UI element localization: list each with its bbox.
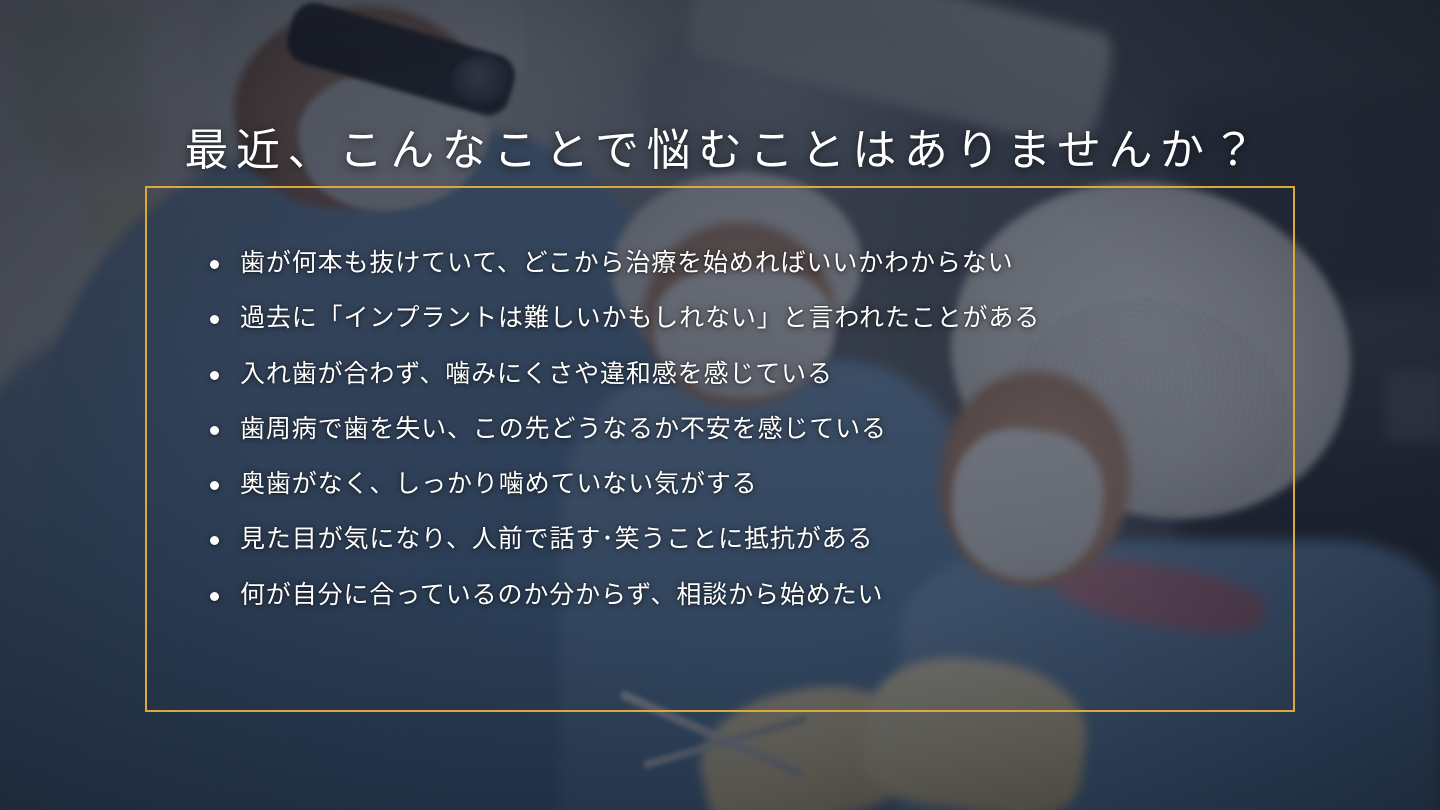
presentation-slide: 最近、こんなことで悩むことはありませんか？ 歯が何本も抜けていて、どこから治療を… [0, 0, 1440, 810]
bullet-dot-icon [210, 481, 219, 490]
concerns-list: 歯が何本も抜けていて、どこから治療を始めればいいかわからない 過去に「インプラン… [210, 246, 1230, 614]
list-item: 見た目が気になり、人前で話す･笑うことに抵抗がある [210, 522, 1230, 558]
list-item: 歯が何本も抜けていて、どこから治療を始めればいいかわからない [210, 246, 1230, 282]
list-item-label: 歯が何本も抜けていて、どこから治療を始めればいいかわからない [240, 250, 1014, 277]
list-item: 奥歯がなく、しっかり噛めていない気がする [210, 467, 1230, 503]
bullet-dot-icon [210, 315, 219, 324]
list-item: 何が自分に合っているのか分からず、相談から始めたい [210, 578, 1230, 614]
bullet-dot-icon [210, 371, 219, 380]
list-item-label: 過去に「インプラントは難しいかもしれない」と言われたことがある [240, 305, 1040, 332]
list-item-label: 歯周病で歯を失い、この先どうなるか不安を感じている [240, 416, 887, 443]
list-item-label: 何が自分に合っているのか分からず、相談から始めたい [240, 582, 883, 609]
list-item: 入れ歯が合わず、噛みにくさや違和感を感じている [210, 357, 1230, 393]
slide-title: 最近、こんなことで悩むことはありませんか？ [0, 125, 1440, 178]
slide-content: 最近、こんなことで悩むことはありませんか？ 歯が何本も抜けていて、どこから治療を… [0, 0, 1440, 810]
bullet-dot-icon [210, 592, 219, 601]
bullet-dot-icon [210, 536, 219, 545]
list-item: 歯周病で歯を失い、この先どうなるか不安を感じている [210, 412, 1230, 448]
list-item-label: 入れ歯が合わず、噛みにくさや違和感を感じている [240, 361, 833, 388]
bullet-dot-icon [210, 260, 219, 269]
bullet-dot-icon [210, 426, 219, 435]
list-item-label: 奥歯がなく、しっかり噛めていない気がする [240, 471, 758, 498]
list-item: 過去に「インプラントは難しいかもしれない」と言われたことがある [210, 301, 1230, 337]
list-item-label: 見た目が気になり、人前で話す･笑うことに抵抗がある [240, 526, 873, 553]
